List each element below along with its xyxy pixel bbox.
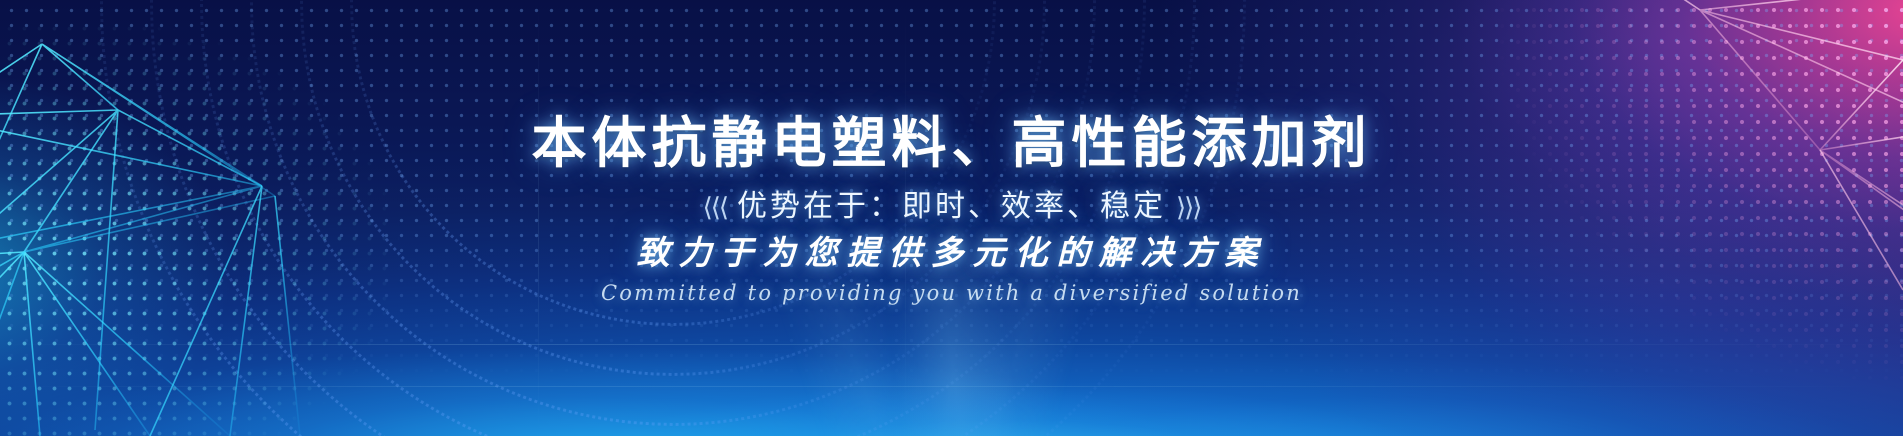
chevron-right-icon: ⟩⟩⟩: [1166, 192, 1210, 222]
banner-subtitle: ⟨⟨⟨优势在于：即时、效率、稳定⟩⟩⟩: [0, 192, 1903, 222]
banner-subtitle-text: 优势在于：即时、效率、稳定: [737, 190, 1166, 223]
banner-headline: 本体抗静电塑料、高性能添加剂: [0, 116, 1903, 171]
hero-banner: 本体抗静电塑料、高性能添加剂 ⟨⟨⟨优势在于：即时、效率、稳定⟩⟩⟩ 致力于为您…: [0, 0, 1903, 436]
banner-slogan-en: Committed to providing you with a divers…: [0, 283, 1903, 304]
chevron-left-icon: ⟨⟨⟨: [693, 192, 737, 222]
banner-slogan-cn: 致力于为您提供多元化的解决方案: [0, 238, 1903, 271]
